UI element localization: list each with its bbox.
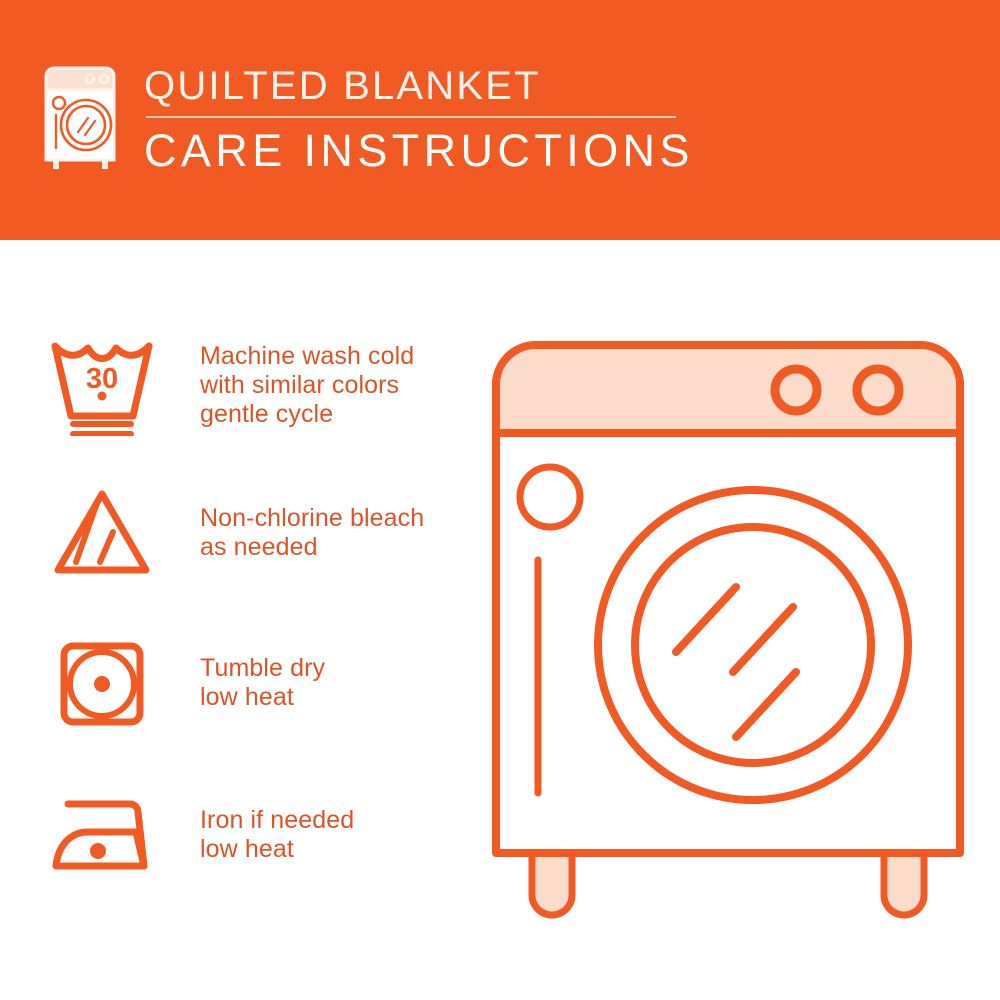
care-line: Tumble dry	[200, 654, 325, 683]
content-area: 30 Machine wash cold with similar colors…	[0, 240, 1000, 1000]
care-line: Non-chlorine bleach	[200, 504, 424, 533]
tumble-dry-low-heat-icon	[46, 632, 158, 736]
title-divider	[146, 116, 676, 118]
header-title-block: QUILTED BLANKET CARE INSTRUCTIONS	[144, 62, 694, 176]
care-line: low heat	[200, 683, 325, 712]
page-title-secondary: CARE INSTRUCTIONS	[144, 126, 694, 176]
care-line: Machine wash cold	[200, 342, 414, 371]
care-text-tumble-dry: Tumble dry low heat	[200, 632, 325, 712]
care-text-iron: Iron if needed low heat	[200, 782, 354, 864]
care-line: gentle cycle	[200, 400, 414, 429]
wash-temperature-label: 30	[86, 363, 118, 395]
page-title-primary: QUILTED BLANKET	[144, 64, 694, 108]
knob-left	[775, 369, 817, 411]
care-row-tumble-dry: Tumble dry low heat	[46, 632, 466, 782]
care-line: low heat	[200, 835, 354, 864]
iron-low-heat-icon	[46, 782, 158, 886]
care-row-machine-wash: 30 Machine wash cold with similar colors…	[46, 332, 466, 482]
care-text-bleach: Non-chlorine bleach as needed	[200, 482, 424, 562]
care-instructions-page: QUILTED BLANKET CARE INSTRUCTIONS	[0, 0, 1000, 1000]
care-line: as needed	[200, 533, 424, 562]
wash-tub-30-gentle-icon: 30	[46, 332, 158, 436]
front-load-washing-machine-illustration	[488, 325, 968, 945]
care-line: Iron if needed	[200, 806, 354, 835]
care-row-iron: Iron if needed low heat	[46, 782, 466, 932]
care-text-machine-wash: Machine wash cold with similar colors ge…	[200, 332, 414, 429]
care-instruction-list: 30 Machine wash cold with similar colors…	[46, 332, 466, 932]
care-row-bleach: Non-chlorine bleach as needed	[46, 482, 466, 632]
header-banner: QUILTED BLANKET CARE INSTRUCTIONS	[0, 0, 1000, 240]
header-content: QUILTED BLANKET CARE INSTRUCTIONS	[44, 62, 694, 176]
care-line: with similar colors	[200, 371, 414, 400]
washing-machine-icon	[44, 62, 122, 172]
triangle-non-chlorine-bleach-icon	[46, 482, 158, 586]
knob-right	[857, 369, 899, 411]
